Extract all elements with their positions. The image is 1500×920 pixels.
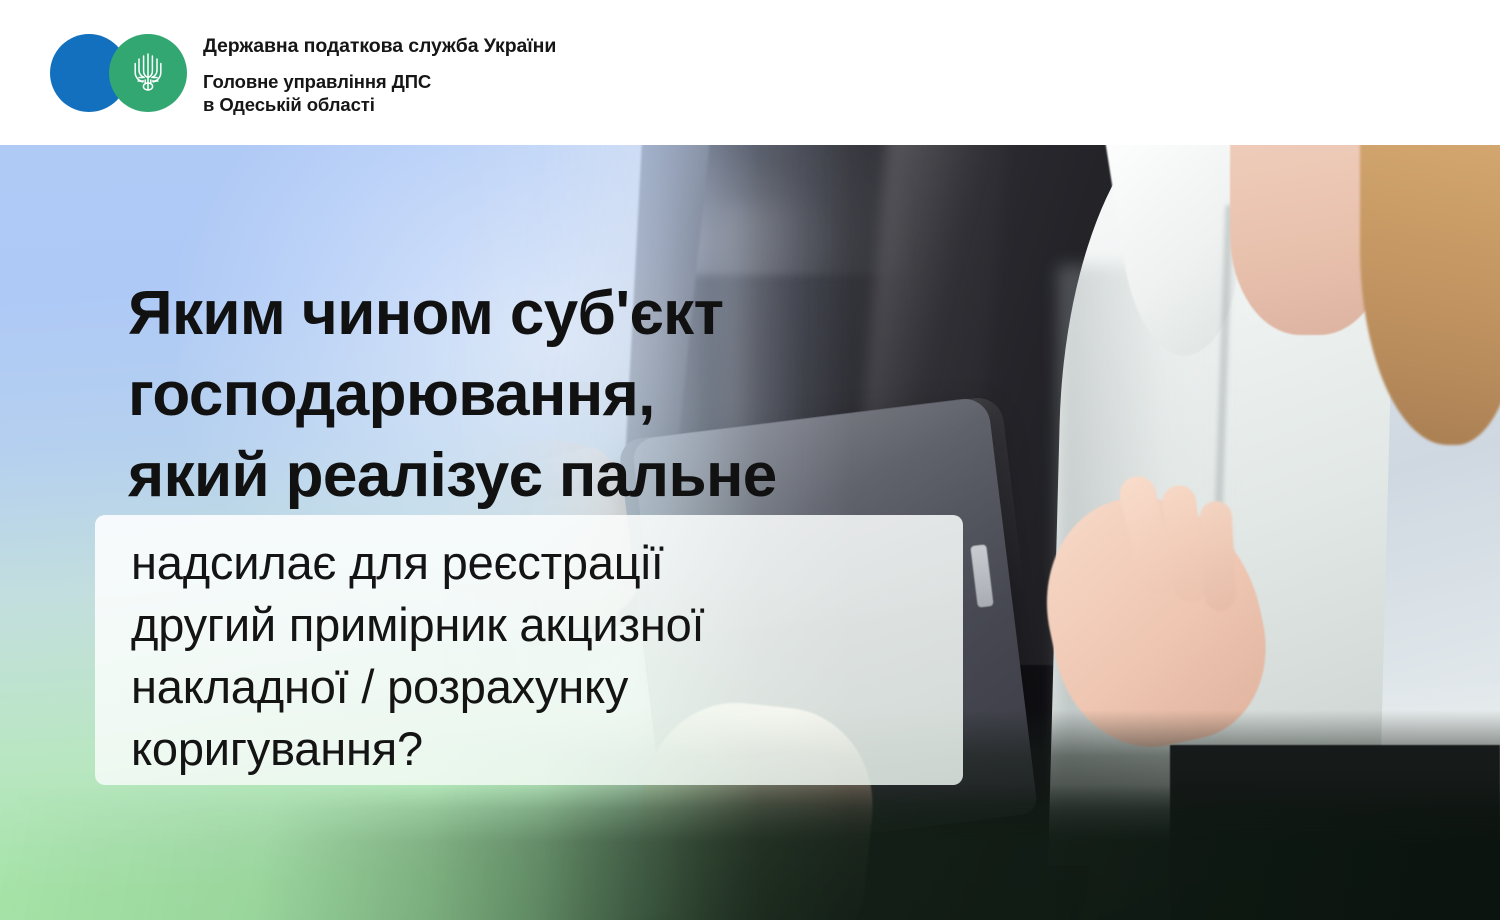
page-subtitle: надсилає для реєстрації другий примірник… xyxy=(131,532,961,780)
woman-hand-finger-3 xyxy=(1199,500,1237,612)
page-headline: Яким чином суб'єкт господарювання, який … xyxy=(128,273,1008,516)
trident-icon xyxy=(132,50,164,96)
bottom-dark-band xyxy=(0,785,1500,920)
organisation-logo xyxy=(50,34,198,112)
organisation-name: Державна податкова служба України xyxy=(203,34,903,58)
poster-root: Яким чином суб'єкт господарювання, який … xyxy=(0,0,1500,920)
organisation-unit: Головне управління ДПС в Одеській област… xyxy=(203,70,903,116)
header-text-block: Державна податкова служба України Головн… xyxy=(203,34,903,116)
header-bar: Державна податкова служба України Головн… xyxy=(0,0,1500,145)
